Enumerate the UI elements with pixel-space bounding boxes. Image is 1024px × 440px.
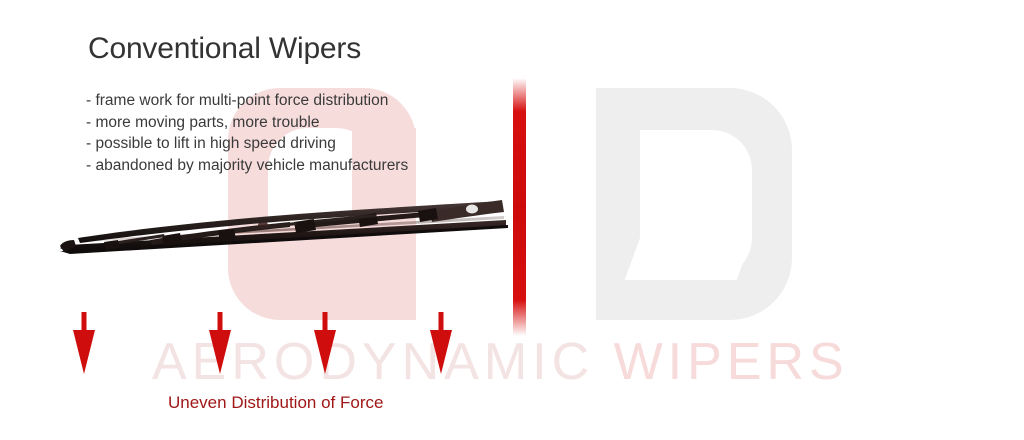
arrow-head-down-icon [430,330,452,374]
list-item: - possible to lift in high speed driving [86,133,408,155]
list-item: - abandoned by majority vehicle manufact… [86,155,408,177]
list-item: - more moving parts, more trouble [86,112,408,134]
page-title-conventional: Conventional Wipers [88,32,361,66]
bullet-list-conventional: - frame work for multi-point force distr… [86,90,408,176]
list-item: - frame work for multi-point force distr… [86,90,408,112]
force-arrows-uneven [60,308,480,374]
panel-conventional: Conventional Wipers - frame work for mul… [0,0,513,440]
arrow-stem [218,312,223,330]
conventional-wiper-blade-image [58,196,510,258]
panel-aerodynamic: AERODYNAMIC WIPERS - build in memory cur… [526,0,1024,440]
arrow-stem [82,312,87,330]
arrow-stem [439,312,444,330]
arrow-stem [323,312,328,330]
infographic-canvas: AERODYNAMIC WIPERS Conventional Wipers -… [0,0,1024,440]
arrow-head-down-icon [209,330,231,374]
arrow-head-down-icon [314,330,336,374]
caption-uneven-distribution: Uneven Distribution of Force [168,393,383,413]
center-divider [513,78,526,336]
arrow-head-down-icon [73,330,95,374]
